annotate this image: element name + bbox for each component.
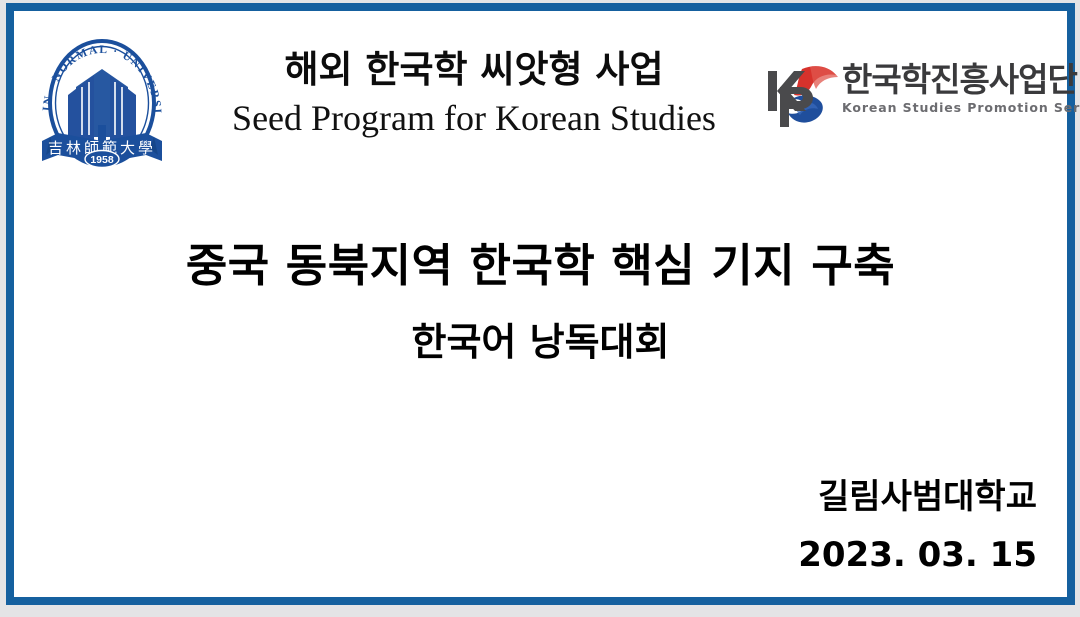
ksps-kp-monogram-icon xyxy=(762,59,846,133)
slide-footer: 길림사범대학교 2023. 03. 15 xyxy=(798,473,1037,579)
ksps-name-english: Korean Studies Promotion Service xyxy=(842,100,1070,115)
program-title-english: Seed Program for Korean Studies xyxy=(194,95,754,141)
presentation-slide: JILIN · NORMAL · UNIVERSITY xyxy=(6,3,1075,605)
main-title-block: 중국 동북지역 한국학 핵심 기지 구축 한국어 낭독대회 xyxy=(14,237,1067,367)
ksps-name-korean: 한국학진흥사업단 xyxy=(842,61,1070,99)
main-title-line-2: 한국어 낭독대회 xyxy=(14,317,1067,367)
footer-organization: 길림사범대학교 xyxy=(798,473,1037,521)
ksps-sponsor-logo: 한국학진흥사업단 Korean Studies Promotion Servic… xyxy=(762,59,1068,133)
slide-header: JILIN · NORMAL · UNIVERSITY xyxy=(14,11,1067,181)
program-title-block: 해외 한국학 씨앗형 사업 Seed Program for Korean St… xyxy=(194,47,754,141)
program-title-korean: 해외 한국학 씨앗형 사업 xyxy=(194,47,754,93)
slide-content-area: JILIN · NORMAL · UNIVERSITY xyxy=(14,11,1067,597)
footer-date: 2023. 03. 15 xyxy=(798,531,1037,579)
ksps-wordmark: 한국학진흥사업단 Korean Studies Promotion Servic… xyxy=(842,61,1070,115)
svg-text:1958: 1958 xyxy=(90,154,114,166)
main-title-line-1: 중국 동북지역 한국학 핵심 기지 구축 xyxy=(14,237,1067,295)
jilin-normal-university-logo: JILIN · NORMAL · UNIVERSITY xyxy=(32,29,172,181)
